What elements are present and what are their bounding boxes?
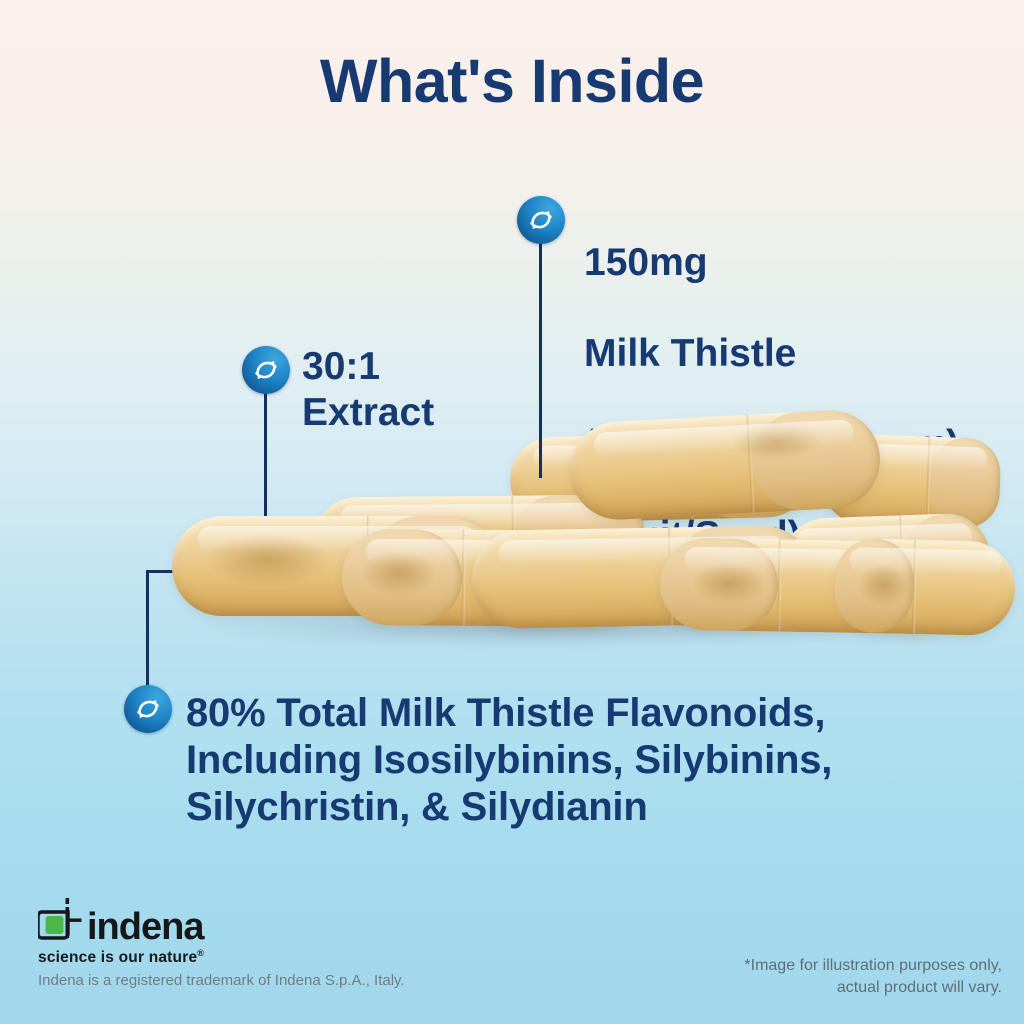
indena-logo-wordmark: indena bbox=[87, 911, 203, 944]
indena-logo-mark-icon bbox=[38, 898, 82, 944]
capsule bbox=[568, 408, 883, 522]
leader-line-extract bbox=[264, 390, 267, 534]
page-title: What's Inside bbox=[0, 46, 1024, 116]
indena-logo-tagline: science is our nature® bbox=[38, 948, 204, 967]
capsule bbox=[834, 538, 1016, 637]
indena-logo: indena science is our nature® bbox=[38, 898, 204, 967]
infographic-canvas: What's Inside bbox=[0, 0, 1024, 1024]
trademark-note: Indena is a registered trademark of Inde… bbox=[38, 972, 405, 989]
cycle-arrows-icon-milk-thistle bbox=[517, 196, 565, 244]
cycle-arrows-icon-extract bbox=[242, 346, 290, 394]
image-disclaimer: *Image for illustration purposes only, a… bbox=[744, 955, 1002, 998]
callout-flavonoids: 80% Total Milk Thistle Flavonoids, Inclu… bbox=[186, 690, 832, 830]
callout-milk-thistle-line2: Milk Thistle bbox=[584, 331, 959, 377]
registered-mark: ® bbox=[197, 948, 204, 958]
indena-tagline-text: science is our nature bbox=[38, 949, 197, 966]
cycle-arrows-icon-flavonoids bbox=[124, 685, 172, 733]
callout-milk-thistle-line1: 150mg bbox=[584, 240, 959, 286]
leader-line-flavonoids-vertical bbox=[146, 570, 149, 690]
leader-line-milk-thistle bbox=[539, 240, 542, 478]
callout-extract-ratio: 30:1 Extract bbox=[302, 344, 434, 435]
